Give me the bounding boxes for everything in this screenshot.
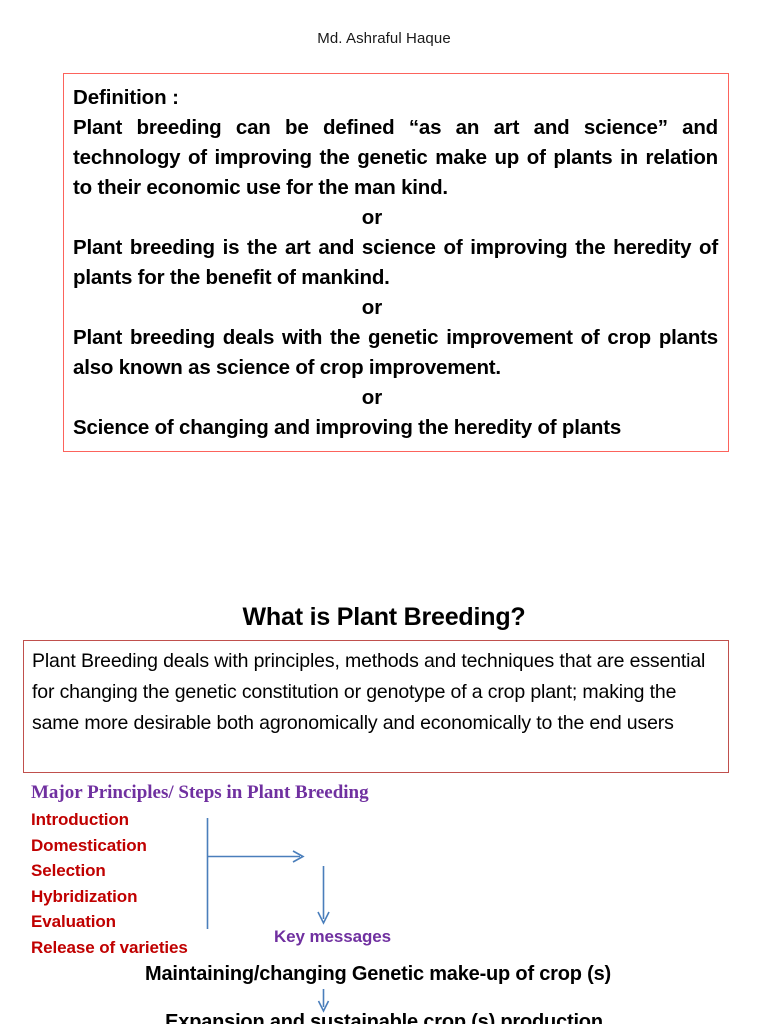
breeding-steps-list: Introduction Domestication Selection Hyb… [31, 807, 281, 961]
definition-paragraph-4: Science of changing and improving the he… [72, 413, 720, 443]
slide-page: Md. Ashraful Haque Definition : Plant br… [0, 0, 768, 1024]
definition-title: Definition : [72, 83, 720, 113]
definition-box: Definition : Plant breeding can be defin… [63, 73, 729, 452]
what-is-plant-breeding-text: Plant Breeding deals with principles, me… [32, 646, 721, 739]
list-item: Hybridization [31, 884, 281, 910]
definition-separator-1: or [72, 203, 720, 233]
list-item: Selection [31, 858, 281, 884]
down-arrow-head-icon-2 [319, 1001, 329, 1011]
page-title: What is Plant Breeding? [0, 603, 768, 632]
down-arrow-head-icon-1 [318, 912, 329, 923]
what-is-plant-breeding-box: Plant Breeding deals with principles, me… [23, 640, 729, 773]
list-item: Release of varieties [31, 935, 281, 961]
definition-paragraph-2: Plant breeding is the art and science of… [72, 233, 720, 293]
major-principles-heading: Major Principles/ Steps in Plant Breedin… [31, 782, 369, 804]
list-item: Domestication [31, 833, 281, 859]
key-messages-label: Key messages [274, 927, 391, 947]
outcome-label: Maintaining/changing Genetic make-up of … [145, 963, 611, 986]
right-arrow-head-icon [293, 851, 303, 862]
definition-separator-3: or [72, 383, 720, 413]
list-item: Evaluation [31, 909, 281, 935]
bottom-cutoff-region: Expansion and sustainable crop (s) produ… [0, 1011, 768, 1024]
definition-paragraph-3: Plant breeding deals with the genetic im… [72, 323, 720, 383]
definition-separator-2: or [72, 293, 720, 323]
bottom-label: Expansion and sustainable crop (s) produ… [0, 1011, 768, 1024]
list-item: Introduction [31, 807, 281, 833]
definition-paragraph-1: Plant breeding can be defined “as an art… [72, 113, 720, 203]
author-name: Md. Ashraful Haque [0, 30, 768, 47]
